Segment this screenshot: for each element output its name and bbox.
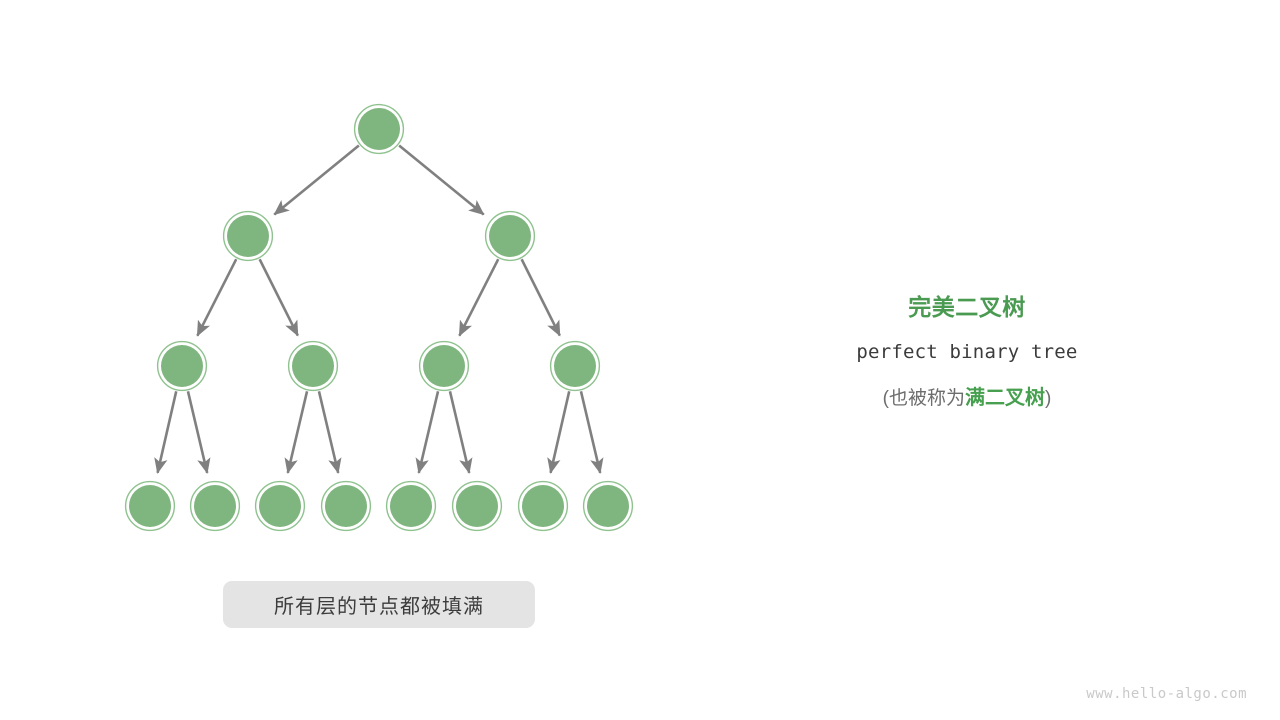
tree-node <box>322 482 370 530</box>
legend-block: 完美二叉树 perfect binary tree (也被称为满二叉树) <box>817 292 1117 414</box>
legend-alias-strong: 满二叉树 <box>965 387 1045 409</box>
tree-edge <box>399 145 484 214</box>
tree-edge <box>581 391 600 473</box>
tree-node <box>158 342 206 390</box>
tree-edge <box>459 259 498 336</box>
tree-node <box>584 482 632 530</box>
caption-box: 所有层的节点都被填满 <box>223 581 535 628</box>
tree-edge <box>197 259 236 336</box>
legend-alias: (也被称为满二叉树) <box>817 383 1117 414</box>
legend-title: 完美二叉树 <box>817 292 1117 322</box>
tree-node-fill <box>390 485 432 527</box>
watermark: www.hello-algo.com <box>1086 686 1247 702</box>
tree-edge <box>274 145 359 214</box>
tree-node-fill <box>587 485 629 527</box>
tree-node-fill <box>522 485 564 527</box>
tree-node-fill <box>227 215 269 257</box>
tree-node-fill <box>423 345 465 387</box>
tree-node <box>387 482 435 530</box>
tree-edge <box>288 391 307 473</box>
legend-subtitle: perfect binary tree <box>817 337 1117 367</box>
tree-node <box>289 342 337 390</box>
tree-node <box>551 342 599 390</box>
tree-node-fill <box>554 345 596 387</box>
tree-edge <box>260 259 298 335</box>
tree-node <box>519 482 567 530</box>
tree-node <box>126 482 174 530</box>
tree-node <box>256 482 304 530</box>
tree-edge <box>551 391 570 473</box>
legend-alias-prefix: (也被称为 <box>883 388 965 409</box>
caption-text: 所有层的节点都被填满 <box>274 590 484 619</box>
tree-node-fill <box>194 485 236 527</box>
tree-node-layer <box>126 105 632 530</box>
tree-node-fill <box>358 108 400 150</box>
tree-node-fill <box>129 485 171 527</box>
tree-node <box>355 105 403 153</box>
tree-node <box>453 482 501 530</box>
tree-edge <box>188 391 207 473</box>
tree-node <box>224 212 272 260</box>
tree-node-fill <box>456 485 498 527</box>
tree-edge <box>158 391 177 473</box>
tree-edge <box>450 391 469 473</box>
tree-node-fill <box>292 345 334 387</box>
tree-node <box>191 482 239 530</box>
tree-node-fill <box>489 215 531 257</box>
tree-node-fill <box>161 345 203 387</box>
tree-edge-layer <box>158 145 601 472</box>
tree-node-fill <box>325 485 367 527</box>
tree-edge <box>522 259 560 335</box>
tree-edge <box>419 391 438 473</box>
tree-edge <box>319 391 338 473</box>
legend-alias-suffix: ) <box>1045 388 1051 409</box>
tree-node <box>420 342 468 390</box>
tree-node-fill <box>259 485 301 527</box>
tree-node <box>486 212 534 260</box>
